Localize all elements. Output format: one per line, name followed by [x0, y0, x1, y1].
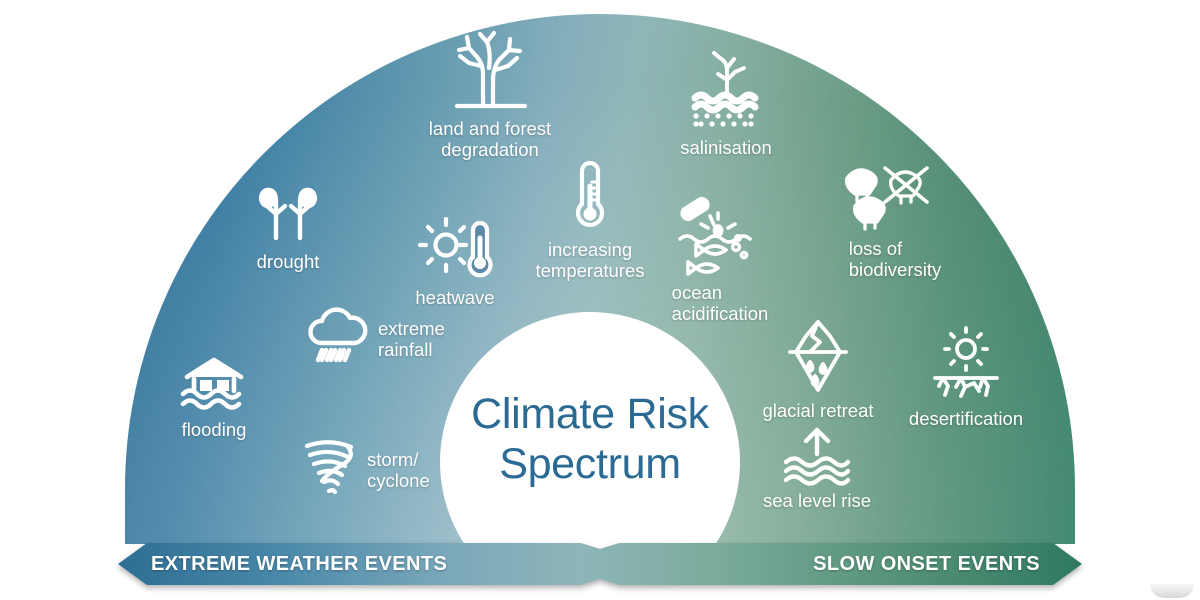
item-label: drought — [257, 251, 320, 272]
thermometer-icon — [570, 160, 610, 232]
item-glacial-retreat[interactable]: glacial retreat — [748, 318, 888, 421]
test-tube-fish-icon — [674, 192, 766, 278]
birds-extinct-icon — [843, 162, 947, 232]
bare-tree-icon — [445, 30, 535, 112]
item-drought[interactable]: drought — [232, 180, 344, 272]
item-label: increasing temperatures — [536, 239, 645, 282]
sun-thermometer-icon — [418, 218, 492, 280]
rising-sea-icon — [780, 428, 854, 484]
melting-iceberg-icon — [782, 318, 854, 394]
item-label: storm/ cyclone — [367, 449, 430, 492]
item-heatwave[interactable]: heatwave — [396, 218, 514, 308]
item-label: land and forest degradation — [429, 118, 551, 161]
item-salinisation[interactable]: salinisation — [662, 50, 790, 158]
banner-label-slow-onset: SLOW ONSET EVENTS — [813, 543, 1040, 585]
item-label: heatwave — [415, 287, 494, 308]
corner-mark — [1150, 584, 1194, 598]
item-flooding[interactable]: flooding — [160, 355, 268, 440]
salt-water-plant-icon — [687, 50, 765, 132]
item-label: loss of biodiversity — [849, 238, 942, 281]
item-label: desertification — [909, 408, 1023, 429]
item-land-forest-degradation[interactable]: land and forest degradation — [400, 30, 580, 161]
cyclone-icon — [300, 435, 360, 497]
item-label: extreme rainfall — [378, 318, 445, 361]
wilting-plants-icon — [255, 180, 321, 242]
page-title: Climate Risk Spectrum — [440, 390, 740, 490]
item-ocean-acidification[interactable]: ocean acidification — [655, 192, 785, 325]
climate-risk-spectrum-infographic: flooding extreme rainfall storm/ c — [0, 0, 1200, 600]
item-label: glacial retreat — [762, 400, 873, 421]
item-label: flooding — [182, 419, 247, 440]
rain-cloud-icon — [305, 305, 371, 367]
item-sea-level-rise[interactable]: sea level rise — [750, 428, 884, 511]
item-label: sea level rise — [763, 490, 871, 511]
item-loss-of-biodiversity[interactable]: loss of biodiversity — [830, 162, 960, 281]
item-storm-cyclone[interactable]: storm/ cyclone — [300, 435, 430, 497]
item-increasing-temperatures[interactable]: increasing temperatures — [524, 160, 656, 282]
item-desertification[interactable]: desertification — [888, 330, 1044, 429]
sun-cracked-ground-icon — [925, 330, 1007, 402]
item-extreme-rainfall[interactable]: extreme rainfall — [305, 305, 445, 367]
spectrum-banner: EXTREME WEATHER EVENTS SLOW ONSET EVENTS — [118, 543, 1082, 585]
item-label: salinisation — [680, 137, 772, 158]
flooded-house-icon — [177, 355, 251, 411]
banner-label-extreme-weather: EXTREME WEATHER EVENTS — [151, 543, 447, 585]
